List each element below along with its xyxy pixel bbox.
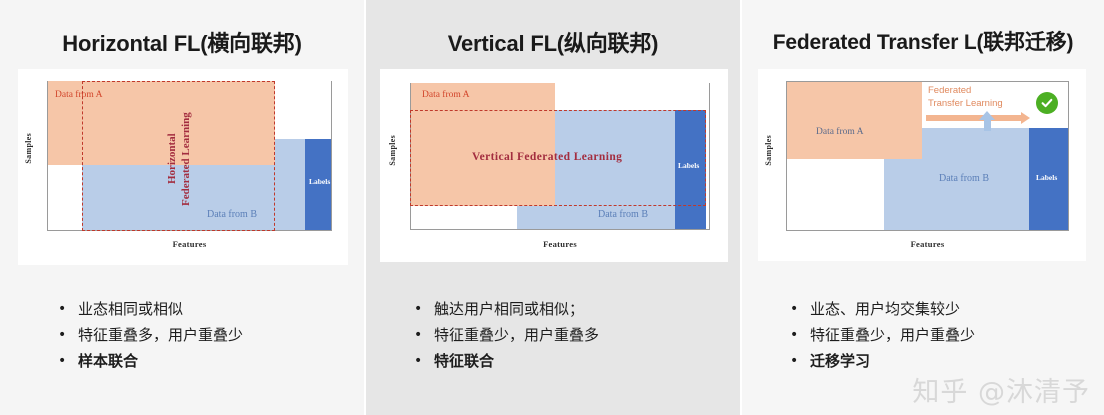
transfer-arrow-icon [926,115,1022,121]
bullet-text: 触达用户相同或相似； [434,296,584,322]
axis-line-left [786,81,787,231]
panel-vertical-fl: Vertical FL(纵向联邦) Samples Data from A Da… [366,0,740,415]
label-fl-line1: Horizontal [166,107,180,211]
figure-ftl: Samples Federated Transfer Learning [758,69,1086,261]
bullet-glyph: • [58,348,78,374]
bullet-text: 特征重叠多，用户重叠少 [78,322,243,348]
bullet-text: 特征联合 [434,348,494,374]
figure-horizontal-fl: Samples Data from A Data from B [18,69,348,265]
axis-line-bottom [786,230,1069,231]
label-labels: Labels [309,177,330,186]
slide-root: Horizontal FL(横向联邦) Samples [0,0,1104,415]
bullet-item: • 样本联合 [58,348,364,374]
upward-arrow-icon [984,119,991,131]
axis-line-bottom [410,229,710,230]
label-fl-line2: Federated Learning [180,97,194,221]
bullet-text: 特征重叠少，用户重叠少 [810,322,975,348]
bullet-glyph: • [790,348,810,374]
axis-line-right [1068,81,1069,231]
bullet-glyph: • [58,322,78,348]
panel-title-vertical: Vertical FL(纵向联邦) [366,26,740,58]
panel-title-horizontal: Horizontal FL(横向联邦) [0,26,364,58]
axis-line-left [47,81,48,231]
block-overlap-notch-top [884,128,922,159]
bullet-item: • 业态、用户均交集较少 [790,296,1104,322]
bullet-text: 业态、用户均交集较少 [810,296,960,322]
bullets-horizontal: • 业态相同或相似 • 特征重叠多，用户重叠少 • 样本联合 [0,296,364,374]
label-data-from-a: Data from A [816,127,864,137]
label-labels: Labels [1036,173,1057,182]
panel-horizontal-fl: Horizontal FL(横向联邦) Samples [0,0,364,415]
bullet-glyph: • [414,322,434,348]
x-axis-label: Features [47,239,332,249]
bullet-glyph: • [58,296,78,322]
bullet-glyph: • [414,348,434,374]
label-ftl-line2: Transfer Learning [928,98,1003,111]
bullet-item: • 触达用户相同或相似； [414,296,740,322]
panel-title-ftl: Federated Transfer L(联邦迁移) [742,26,1104,56]
bullet-text: 迁移学习 [810,348,870,374]
x-axis-label: Features [786,239,1069,249]
label-vertical-federated-learning: Vertical Federated Learning [472,151,622,163]
bullet-text: 业态相同或相似 [78,296,183,322]
bullet-glyph: • [790,296,810,322]
plot-area: Data from A Data from B Labels Vertical … [410,83,710,230]
panel-federated-transfer-learning: Federated Transfer L(联邦迁移) Samples [742,0,1104,415]
bullet-item: • 特征重叠多，用户重叠少 [58,322,364,348]
label-data-from-b: Data from B [598,209,648,220]
plot-area: Data from A Data from B Labels Horizonta… [47,81,332,231]
axis-line-top [786,81,1069,82]
bullet-item: • 特征联合 [414,348,740,374]
y-axis-label: Samples [388,135,397,166]
bullet-glyph: • [414,296,434,322]
block-data-from-b-bottom [517,206,555,230]
label-data-from-b: Data from B [939,173,989,184]
label-data-from-b: Data from B [207,209,257,220]
bullets-vertical: • 触达用户相同或相似； • 特征重叠少，用户重叠多 • 特征联合 [366,296,740,374]
x-axis-label: Features [410,239,710,249]
bullet-item: • 特征重叠少，用户重叠多 [414,322,740,348]
block-data-from-b-extension [275,139,309,231]
label-data-from-a: Data from A [422,90,470,100]
label-labels: Labels [678,161,699,170]
bullet-item: • 业态相同或相似 [58,296,364,322]
bullet-text: 样本联合 [78,348,138,374]
bullets-ftl: • 业态、用户均交集较少 • 特征重叠少，用户重叠少 • 迁移学习 [742,296,1104,374]
y-axis-label: Samples [24,133,33,164]
bullet-text: 特征重叠少，用户重叠多 [434,322,599,348]
label-data-from-a: Data from A [55,90,103,100]
bullet-item: • 特征重叠少，用户重叠少 [790,322,1104,348]
figure-vertical-fl: Samples Data from A Data from B Labels [380,69,728,262]
check-circle-icon [1036,92,1058,114]
axis-line-right [331,81,332,231]
axis-line-right [709,83,710,230]
bullet-item: • 迁移学习 [790,348,1104,374]
bullet-glyph: • [790,322,810,348]
y-axis-label: Samples [764,135,773,166]
label-ftl-line1: Federated [928,85,971,98]
plot-area: Federated Transfer Learning Data from A … [786,81,1069,231]
